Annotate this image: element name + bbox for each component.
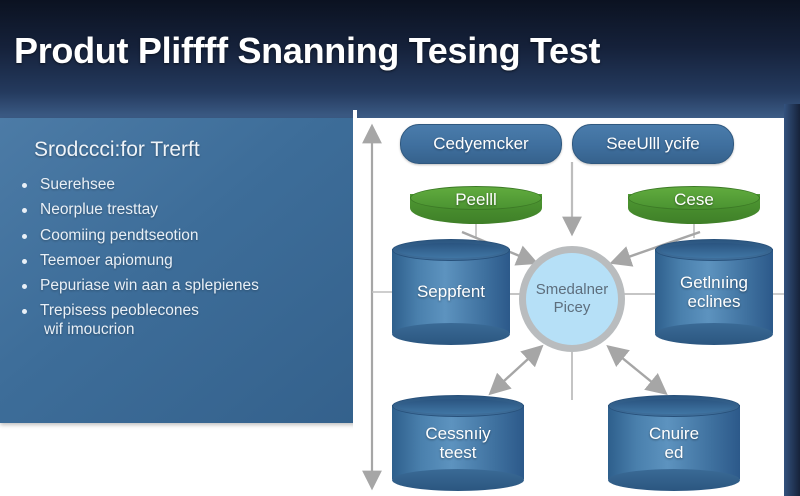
cylinder-label: Cnuire ed [608, 395, 740, 491]
bullet-text: Neorplue tresttay [40, 201, 158, 218]
cylinder-label-line1: Getlnıing [680, 273, 748, 292]
cylinder-label: Seppfent [392, 239, 510, 345]
page-title: Produt Pliffff Snanning Tesing Test [14, 30, 600, 72]
pill-label: SeeUlll ycife [606, 134, 700, 154]
cylinder-cnuire-ed[interactable]: Cnuire ed [608, 395, 740, 491]
pill-seeulll-ycife[interactable]: SeeUlll ycife [572, 124, 734, 164]
bullet-text: Pepuriase win aan a splepienes [40, 277, 259, 294]
left-content-panel: Srodccci:for Trerft Suerehsee Neorplue t… [0, 118, 360, 423]
list-item: Pepuriase win aan a splepienes [14, 277, 358, 295]
cylinder-label-line1: Cnuire [649, 424, 699, 443]
bullet-text: Trepisess peoblecones [40, 302, 199, 319]
slide-right-frame [784, 104, 800, 496]
disc-peelll[interactable]: Peelll [410, 186, 542, 230]
left-panel-heading: Srodccci:for Trerft [34, 138, 200, 162]
center-label-line1: Smedalner [536, 281, 609, 299]
center-node-smedalner-picey[interactable]: Smedalner Picey [519, 246, 625, 352]
list-item: Suerehsee [14, 176, 358, 194]
cylinder-cessniiy-teest[interactable]: Cessnıiy teest [392, 395, 524, 491]
disc-cese[interactable]: Cese [628, 186, 760, 230]
cylinder-label-line2: teest [440, 443, 477, 462]
cylinder-label-line2: ed [665, 443, 684, 462]
bullet-list: Suerehsee Neorplue tresttay Coomiing pen… [14, 176, 358, 346]
bullet-text: Suerehsee [40, 176, 115, 193]
cylinder-label-line1: Cessnıiy [425, 424, 490, 443]
cylinder-label: Cessnıiy teest [392, 395, 524, 491]
disc-label: Peelll [410, 189, 542, 211]
pill-label: Cedyemcker [433, 134, 528, 154]
cylinder-label-line2: eclines [688, 292, 741, 311]
cylinder-seppfent[interactable]: Seppfent [392, 239, 510, 345]
cylinder-label-line1: Seppfent [417, 282, 485, 301]
pill-cedyemcker[interactable]: Cedyemcker [400, 124, 562, 164]
bullet-text-continuation: wif imoucrion [40, 321, 358, 339]
slide-canvas: Produt Pliffff Snanning Tesing Test Srod… [0, 0, 800, 496]
list-item: Trepisess peoblecones wif imoucrion [14, 302, 358, 339]
bullet-text: Teemoer apiomung [40, 252, 173, 269]
bullet-text: Coomiing pendtseotion [40, 227, 199, 244]
diagram-panel-left-edge [353, 110, 357, 496]
cylinder-getlning-eclines[interactable]: Getlnıing eclines [655, 239, 773, 345]
center-label-line2: Picey [554, 299, 591, 317]
list-item: Coomiing pendtseotion [14, 227, 358, 245]
slide-header: Produt Pliffff Snanning Tesing Test [0, 0, 800, 118]
cylinder-label: Getlnıing eclines [655, 239, 773, 345]
list-item: Teemoer apiomung [14, 252, 358, 270]
disc-label: Cese [628, 189, 760, 211]
list-item: Neorplue tresttay [14, 201, 358, 219]
